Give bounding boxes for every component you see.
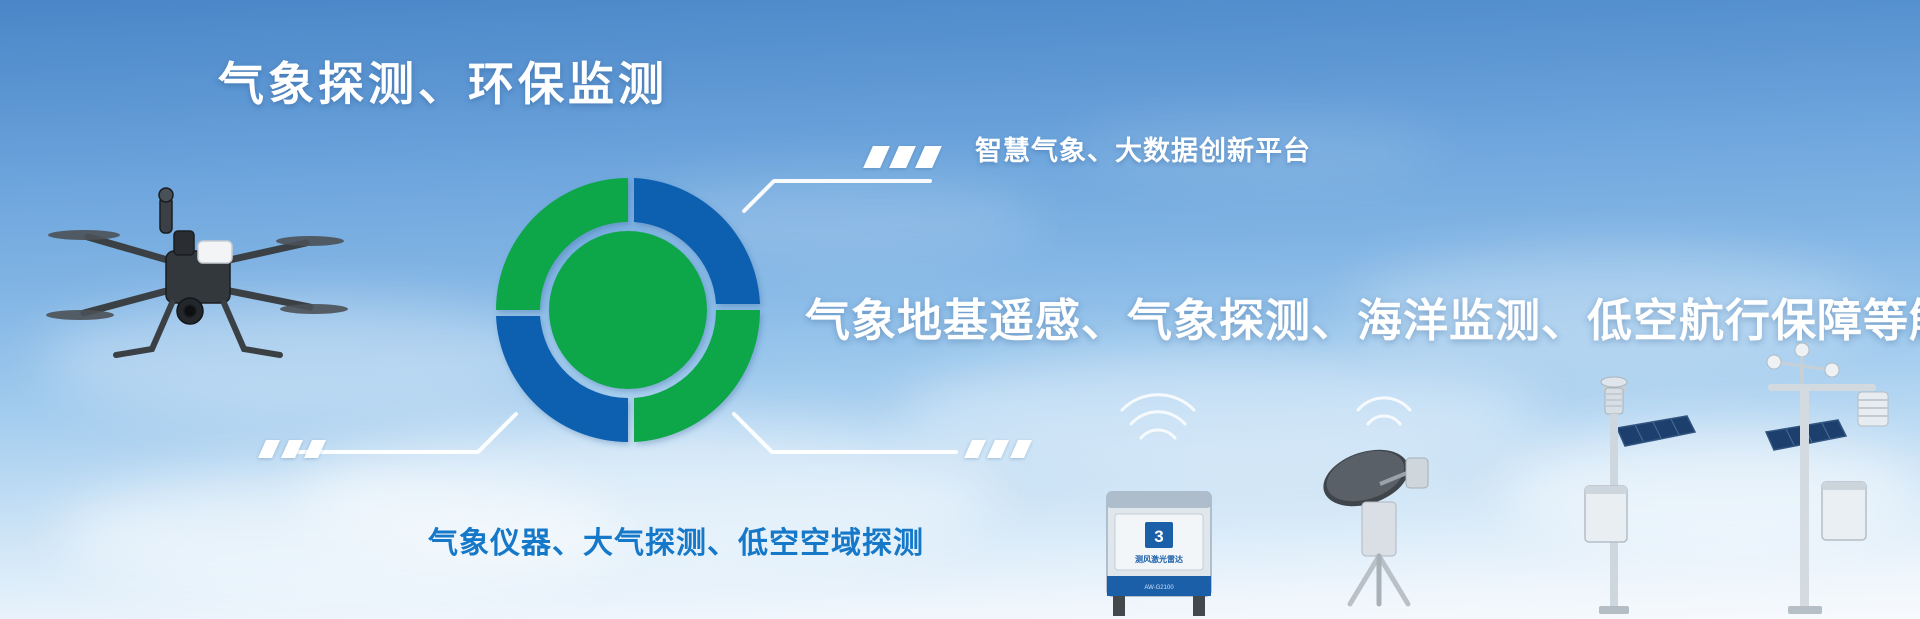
- callout-text-bottom: 气象仪器、大气探测、低空空域探测: [428, 518, 924, 562]
- slash-marks-bottom: [262, 440, 322, 458]
- svg-text:AW-G2100: AW-G2100: [1144, 585, 1174, 591]
- ring-diagram: [478, 160, 778, 460]
- banner-root: 气象探测、环保监测: [0, 0, 1920, 619]
- drone-image: [48, 185, 338, 375]
- svg-text:测风激光雷达: 测风激光雷达: [1135, 554, 1183, 564]
- anemometer-station-image: [1740, 340, 1920, 619]
- satellite-dish-image: [1310, 440, 1460, 610]
- ring-center-circle: [549, 231, 707, 389]
- slash-marks-main: [968, 440, 1028, 458]
- callout-text-top: 智慧气象、大数据创新平台: [975, 129, 1311, 168]
- slash-marks-top: [868, 146, 937, 168]
- page-title: 气象探测、环保监测: [218, 48, 668, 114]
- svg-text:3: 3: [1154, 527, 1163, 546]
- lidar-cabinet-image: 3 测风激光雷达 AW-G2100: [1095, 480, 1225, 619]
- solar-weather-station-image: [1555, 370, 1705, 619]
